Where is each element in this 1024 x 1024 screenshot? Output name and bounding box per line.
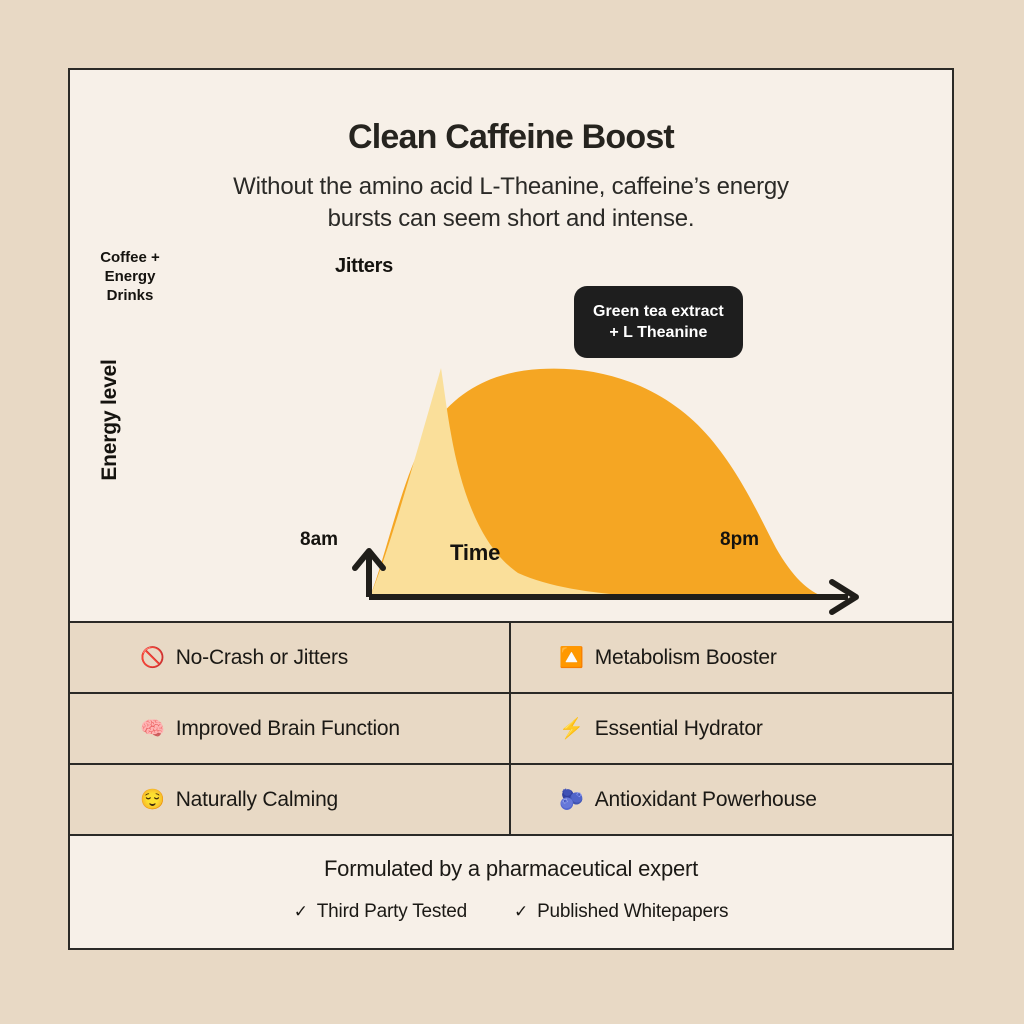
benefit-label: Essential Hydrator — [595, 717, 763, 741]
benefit-item-hydrator: ⚡ Essential Hydrator — [511, 694, 952, 765]
energy-level-chart: Jitters Energy level Time 8am 8pm Coffee… — [70, 248, 956, 623]
check-icon: ✓ — [294, 902, 308, 922]
benefit-item-metabolism: 🔼 Metabolism Booster — [511, 623, 952, 694]
prohibited-icon: 🚫 — [140, 648, 165, 668]
chart-annotation-jitters: Jitters — [335, 255, 393, 278]
up-arrow-button-icon: 🔼 — [559, 648, 584, 668]
chart-x-tick-start: 8am — [300, 529, 338, 551]
benefit-label: Naturally Calming — [176, 788, 338, 812]
footer-badges: ✓ Third Party Tested ✓ Published Whitepa… — [294, 901, 729, 923]
benefit-item-antioxidant: 🫐 Antioxidant Powerhouse — [511, 765, 952, 836]
benefit-item-no-crash: 🚫 No-Crash or Jitters — [70, 623, 511, 694]
page-title: Clean Caffeine Boost — [70, 70, 952, 157]
benefit-label: Improved Brain Function — [176, 717, 400, 741]
footer-section: Formulated by a pharmaceutical expert ✓ … — [70, 836, 952, 948]
chart-y-axis-label: Energy level — [98, 320, 122, 520]
chart-series-badge-green-tea: Green tea extract + L Theanine — [574, 286, 743, 358]
benefit-item-naturally-calming: 😌 Naturally Calming — [70, 765, 511, 836]
chart-x-axis-label: Time — [450, 540, 500, 566]
chart-x-tick-end: 8pm — [720, 529, 759, 551]
benefits-grid: 🚫 No-Crash or Jitters 🔼 Metabolism Boost… — [70, 623, 952, 836]
footer-badge-third-party-tested: ✓ Third Party Tested — [294, 901, 467, 923]
chart-svg — [70, 248, 956, 623]
benefit-label: Metabolism Booster — [595, 646, 777, 670]
footer-badge-label: Third Party Tested — [317, 901, 467, 923]
lightning-bolt-icon: ⚡ — [559, 719, 584, 739]
hero-section: Clean Caffeine Boost Without the amino a… — [70, 70, 952, 623]
benefit-label: Antioxidant Powerhouse — [595, 788, 817, 812]
infographic-card: Clean Caffeine Boost Without the amino a… — [68, 68, 954, 950]
relieved-face-icon: 😌 — [140, 790, 165, 810]
brain-icon: 🧠 — [140, 719, 165, 739]
footer-headline: Formulated by a pharmaceutical expert — [324, 856, 698, 882]
check-icon: ✓ — [514, 902, 528, 922]
footer-badge-published-whitepapers: ✓ Published Whitepapers — [514, 901, 728, 923]
footer-badge-label: Published Whitepapers — [537, 901, 728, 923]
page-subtitle: Without the amino acid L-Theanine, caffe… — [201, 171, 821, 234]
blueberries-icon: 🫐 — [559, 790, 584, 810]
benefit-label: No-Crash or Jitters — [176, 646, 348, 670]
benefit-item-brain-function: 🧠 Improved Brain Function — [70, 694, 511, 765]
